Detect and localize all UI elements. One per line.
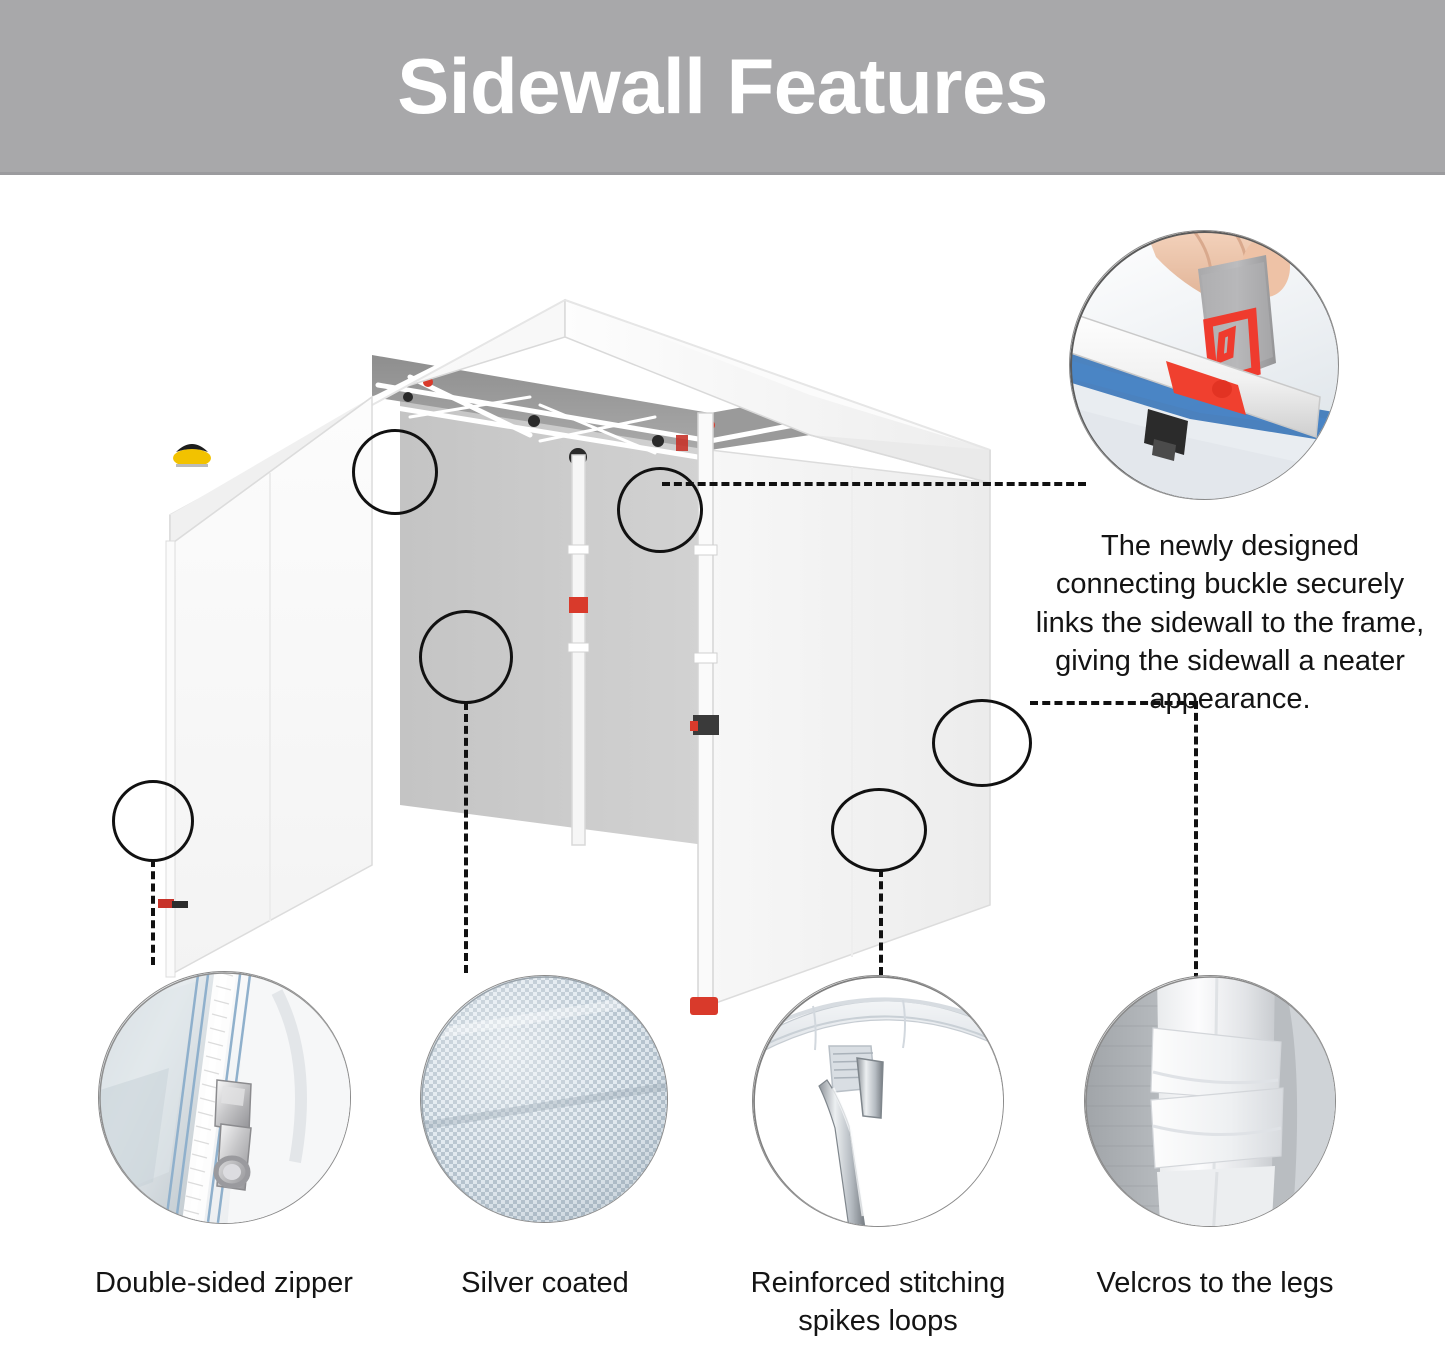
photo-velcro-leg-straps (1084, 975, 1336, 1227)
photo-silver-coated-fabric (420, 975, 668, 1223)
callout-circle-zipper (112, 780, 194, 862)
photo-double-sided-zipper (98, 971, 351, 1224)
page-title: Sidewall Features (397, 47, 1047, 125)
buckle-description: The newly designed connecting buckle sec… (1030, 527, 1430, 718)
photo-reinforced-stitching-spike-loop (752, 975, 1004, 1227)
leader-velcro-vertical (1194, 701, 1198, 981)
leader-silver (464, 702, 468, 973)
leader-stitching (879, 869, 883, 975)
corner-leg-left (166, 541, 175, 977)
caption-silver-coated: Silver coated (400, 1265, 690, 1303)
callout-circle-buckle-left (352, 429, 438, 515)
caption-stitching-line1: Reinforced stitching (751, 1267, 1006, 1299)
caption-reinforced-stitching: Reinforced stitching spikes loops (728, 1265, 1028, 1340)
sidewall-buckle-tab (676, 435, 688, 451)
leader-zipper (151, 859, 155, 965)
callout-circle-velcro (932, 699, 1032, 787)
brand-logo-badge (173, 444, 211, 467)
photo-connecting-buckle (1069, 230, 1339, 500)
leader-buckle (662, 482, 1086, 486)
page-header: Sidewall Features (0, 0, 1445, 175)
content-stage: The newly designed connecting buckle sec… (0, 175, 1445, 1364)
caption-double-sided-zipper: Double-sided zipper (64, 1265, 384, 1303)
caption-velcro-legs: Velcros to the legs (1060, 1265, 1370, 1303)
callout-circle-silver-coating (419, 610, 513, 704)
callout-circle-stitching (831, 788, 927, 872)
caption-stitching-line2: spikes loops (798, 1305, 958, 1337)
callout-circle-buckle-right (617, 467, 703, 553)
canopy-tent-illustration (110, 245, 1010, 1045)
